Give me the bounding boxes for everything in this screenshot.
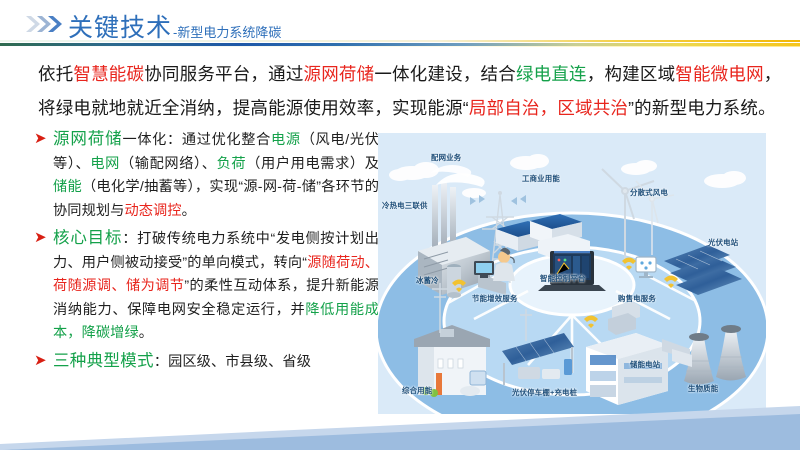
diagram-label: 节能增效服务	[472, 293, 518, 304]
page-title: 关键技术 -新型电力系统降碳	[68, 8, 281, 44]
integrated-energy-system-illustration: 配网业务工商业用能分散式风电冷热电三联供光伏电站冰蓄冷智能控制平台节能增效服务购…	[378, 133, 766, 414]
page-title-subtitle: -新型电力系统降碳	[173, 22, 281, 41]
key-points-list: ➤ 源网荷储一体化：通过优化整合电源（风电/光伏等）、电网（输配网络）、负荷（用…	[34, 128, 379, 378]
slide-header: 关键技术 -新型电力系统降碳	[0, 0, 800, 52]
list-item-heading: 核心目标	[53, 229, 122, 247]
list-item-body: 核心目标：打破传统电力系统中“发电侧按计划出力、用户侧被动接受”的单向模式，转向…	[53, 227, 379, 346]
diagram-label: 分散式风电	[630, 187, 668, 198]
arrow-bullet-icon: ➤	[34, 130, 49, 147]
list-item-heading: 三种典型模式	[53, 352, 154, 370]
slide: 关键技术 -新型电力系统降碳 依托智慧能碳协同服务平台，通过源网荷储一体化建设，…	[0, 0, 800, 450]
header-rule-thin	[0, 40, 800, 42]
list-item: ➤ 核心目标：打破传统电力系统中“发电侧按计划出力、用户侧被动接受”的单向模式，…	[34, 227, 379, 346]
header-rule-glow	[0, 46, 800, 47]
diagram-label: 工商业用能	[522, 173, 560, 184]
diagram-label: 冰蓄冷	[416, 275, 439, 286]
diagram-label: 储能电站	[630, 359, 660, 370]
footer-decoration	[0, 392, 800, 450]
double-chevron-right-icon	[26, 14, 66, 34]
intro-line-1: 依托智慧能碳协同服务平台，通过源网荷储一体化建设，结合绿电直连，构建区域智能微电…	[38, 57, 783, 91]
diagram-label: 购售电服务	[618, 293, 656, 304]
diagram-label: 智能控制平台	[540, 273, 586, 284]
diagram-label: 光伏电站	[708, 237, 738, 248]
list-item-text: ：打破传统电力系统中“发电侧按计划出力、用户侧被动接受”的单向模式，转向“源随荷…	[53, 231, 379, 341]
list-item-body: 源网荷储一体化：通过优化整合电源（风电/光伏等）、电网（输配网络）、负荷（用户用…	[53, 128, 379, 223]
list-item-heading: 源网荷储	[53, 130, 122, 148]
diagram-label: 配网业务	[431, 152, 461, 163]
page-title-main: 关键技术	[68, 8, 172, 44]
list-item-text: ：园区级、市县级、省级	[154, 354, 311, 370]
list-item-body: 三种典型模式：园区级、市县级、省级	[53, 350, 379, 375]
list-item: ➤ 三种典型模式：园区级、市县级、省级	[34, 350, 379, 375]
intro-line-2: 将绿电就地就近全消纳，提高能源使用效率，实现能源“局部自治，区域共治”的新型电力…	[38, 91, 783, 125]
arrow-bullet-icon: ➤	[34, 229, 49, 246]
arrow-bullet-icon: ➤	[34, 352, 49, 369]
list-item: ➤ 源网荷储一体化：通过优化整合电源（风电/光伏等）、电网（输配网络）、负荷（用…	[34, 128, 379, 223]
diagram-label: 冷热电三联供	[382, 200, 428, 211]
intro-paragraph: 依托智慧能碳协同服务平台，通过源网荷储一体化建设，结合绿电直连，构建区域智能微电…	[38, 57, 783, 125]
